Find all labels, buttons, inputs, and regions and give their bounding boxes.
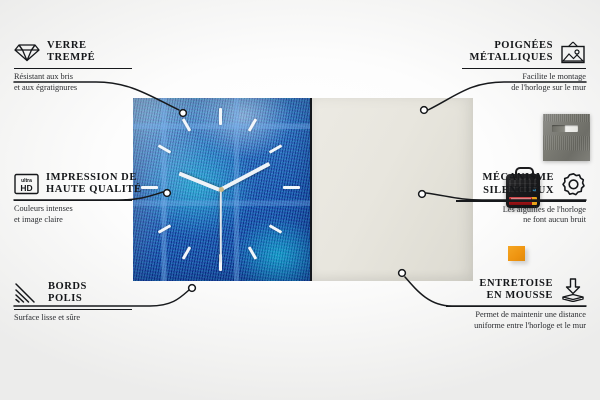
callout-poignees-metalliques[interactable]: POIGNÉES MÉTALLIQUES Facilite le montage…: [462, 40, 586, 93]
product-photo: [133, 98, 473, 281]
callout-mecanisme-silencieux[interactable]: MÉCANISME SILENCIEUX Les aiguilles de l'…: [456, 172, 586, 225]
hour-marker: [219, 108, 222, 125]
metal-hanging-bracket: [543, 114, 590, 161]
callout-header: POIGNÉES MÉTALLIQUES: [462, 40, 586, 65]
foam-spacer-pad: [508, 246, 525, 261]
callout-impression-haute-qualite[interactable]: ultra HD IMPRESSION DE HAUTE QUALITÉ Cou…: [14, 172, 146, 225]
callout-title-line2: POLIS: [48, 293, 87, 305]
hour-marker: [269, 224, 283, 234]
callout-title-line2: TREMPÉ: [47, 52, 95, 64]
callout-subtitle-line1: Permet de maintenir une distance: [446, 310, 586, 320]
callout-title-line1: MÉCANISME: [483, 172, 554, 184]
callout-header: VERRE TREMPÉ: [14, 40, 138, 65]
callout-subtitle-line2: uniforme entre l'horloge et le mur: [446, 321, 586, 331]
callout-rule: [462, 68, 586, 70]
bracket-slot: [552, 125, 578, 132]
callout-subtitle-line1: Couleurs intenses: [14, 204, 146, 214]
callout-subtitle-line2: et image claire: [14, 215, 146, 225]
hour-marker: [182, 246, 192, 260]
clock-back-panel: [312, 98, 473, 281]
callout-title-line2: SILENCIEUX: [483, 185, 554, 197]
callout-header: ENTRETOISE EN MOUSSE: [446, 278, 586, 303]
callout-rule: [14, 200, 132, 202]
hour-marker: [141, 186, 158, 189]
callout-title-line1: IMPRESSION DE: [46, 172, 142, 184]
callout-rule: [456, 200, 586, 202]
clock-hub: [219, 187, 224, 192]
callout-subtitle-line2: et aux égratignures: [14, 83, 138, 93]
infographic-canvas: VERRE TREMPÉ Résistant aux bris et aux é…: [0, 0, 600, 400]
gear-icon: [561, 172, 586, 197]
callout-subtitle-line1: Les aiguilles de l'horloge: [456, 205, 586, 215]
callout-subtitle-line2: de l'horloge sur le mur: [462, 83, 586, 93]
callout-bords-polis[interactable]: BORDS POLIS Surface lisse et sûre: [14, 281, 138, 324]
minute-hand: [219, 162, 270, 192]
hour-marker: [283, 186, 300, 189]
callout-title-line2: MÉTALLIQUES: [470, 52, 553, 64]
callout-verre-trempe[interactable]: VERRE TREMPÉ Résistant aux bris et aux é…: [14, 40, 138, 93]
hour-marker: [158, 224, 172, 234]
callout-title-line2: HAUTE QUALITÉ: [46, 184, 142, 196]
clock-front-face: [133, 98, 312, 281]
callout-subtitle-line1: Résistant aux bris: [14, 72, 138, 82]
hour-hand: [178, 172, 220, 192]
callout-title-line2: EN MOUSSE: [479, 290, 553, 302]
hour-marker: [269, 144, 283, 154]
callout-rule: [446, 306, 586, 308]
second-hand: [220, 190, 222, 262]
callout-rule: [14, 68, 132, 70]
hour-marker: [248, 118, 258, 132]
svg-text:HD: HD: [20, 183, 32, 193]
callout-title-line1: VERRE: [47, 40, 95, 52]
wall-mount-frame-icon: [560, 41, 586, 64]
hour-marker: [158, 144, 172, 154]
callout-header: MÉCANISME SILENCIEUX: [456, 172, 586, 197]
callout-header: BORDS POLIS: [14, 281, 138, 306]
polished-edges-icon: [14, 282, 41, 304]
callout-entretoise-en-mousse[interactable]: ENTRETOISE EN MOUSSE Permet de maintenir…: [446, 278, 586, 331]
callout-title-line1: ENTRETOISE: [479, 278, 553, 290]
callout-title-line1: POIGNÉES: [470, 40, 553, 52]
foam-spacer-arrow-icon: [560, 278, 586, 302]
callout-subtitle-line2: ne font aucun bruit: [456, 215, 586, 225]
callout-rule: [14, 309, 132, 311]
hour-marker: [248, 246, 258, 260]
callout-subtitle-line1: Facilite le montage: [462, 72, 586, 82]
hour-marker: [182, 118, 192, 132]
ultra-hd-icon: ultra HD: [14, 173, 39, 195]
diamond-icon: [14, 42, 40, 62]
callout-subtitle-line1: Surface lisse et sûre: [14, 313, 138, 323]
callout-title-line1: BORDS: [48, 281, 87, 293]
callout-header: ultra HD IMPRESSION DE HAUTE QUALITÉ: [14, 172, 146, 197]
